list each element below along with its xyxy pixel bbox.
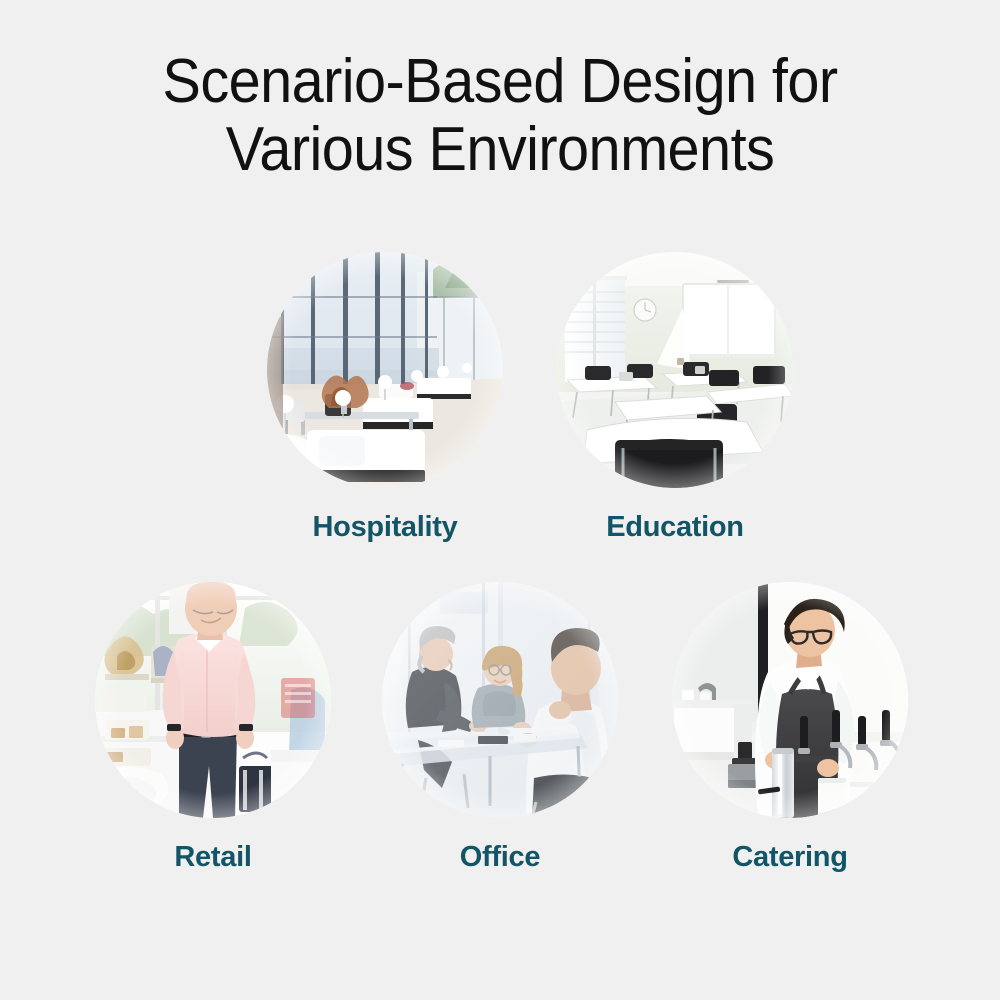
- scenario-grid: Hospitality: [0, 0, 1000, 1000]
- scenario-label-catering: Catering: [645, 840, 935, 874]
- scenario-item-education[interactable]: Education: [530, 252, 820, 544]
- education-photo: [557, 252, 793, 488]
- office-photo: [382, 582, 618, 818]
- scenario-label-education: Education: [530, 510, 820, 544]
- scenario-item-catering[interactable]: Catering: [645, 582, 935, 874]
- hospitality-photo: [267, 252, 503, 488]
- poster-canvas: Scenario-Based Design for Various Enviro…: [0, 0, 1000, 1000]
- scenario-item-office[interactable]: Office: [355, 582, 645, 874]
- scenario-label-office: Office: [355, 840, 645, 874]
- catering-photo: [672, 582, 908, 818]
- scenario-label-retail: Retail: [68, 840, 358, 874]
- scenario-item-hospitality[interactable]: Hospitality: [240, 252, 530, 544]
- scenario-label-hospitality: Hospitality: [240, 510, 530, 544]
- retail-photo: [95, 582, 331, 818]
- scenario-item-retail[interactable]: Retail: [68, 582, 358, 874]
